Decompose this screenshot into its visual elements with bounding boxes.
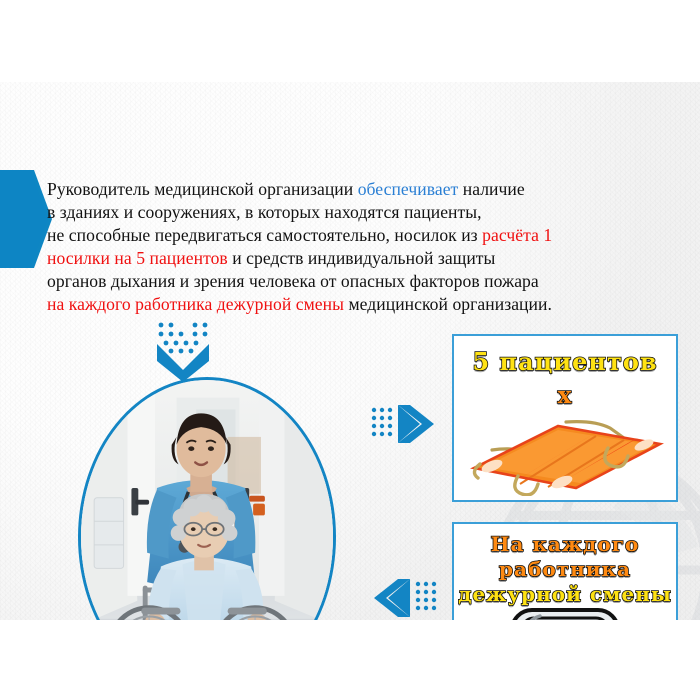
text-run: медицинской организации. (344, 294, 552, 314)
ppe-box-line2: работника (454, 557, 676, 581)
ppe-box-line1: На каждого (454, 532, 676, 556)
text-run-highlight-red: на каждого работника дежурной смены (47, 294, 344, 314)
text-line-2: в зданиях и сооружениях, в которых наход… (47, 201, 677, 224)
photo-circle-frame (78, 377, 336, 620)
regulation-text: Руководитель медицинской организации обе… (47, 178, 677, 317)
stretcher-box-line2: х (454, 382, 676, 409)
nurse-wheelchair-photo (78, 377, 336, 620)
text-line-5: органов дыхания и зрения человека от опа… (47, 270, 677, 293)
text-line-3: не способные передвигаться самостоятельн… (47, 224, 677, 247)
slide-root: Руководитель медицинской организации обе… (0, 0, 700, 700)
text-run: в зданиях и сооружениях, в которых наход… (47, 202, 482, 222)
left-chevron-arrow (368, 574, 440, 620)
text-run-highlight-red: носилки на 5 пациентов (47, 248, 228, 268)
text-run: органов дыхания и зрения человека от опа… (47, 271, 539, 291)
text-run-highlight-blue: обеспечивает (358, 179, 459, 199)
ppe-box-line3: дежурной смены (454, 582, 676, 606)
right-chevron-arrow (368, 400, 440, 448)
stretcher-icon (462, 414, 672, 496)
ppe-box: На каждого работника дежурной смены (452, 522, 678, 620)
stretcher-box: 5 пациентов х (452, 334, 678, 502)
text-run: и средств индивидуальной защиты (228, 248, 496, 268)
text-line-1: Руководитель медицинской организации обе… (47, 178, 677, 201)
left-blue-ribbon (0, 170, 52, 268)
photo-illustration (81, 380, 333, 620)
stretcher-box-line1: 5 пациентов (454, 347, 676, 376)
text-run: не способные передвигаться самостоятельн… (47, 225, 482, 245)
down-chevron-arrow (148, 320, 218, 382)
text-run-highlight-red: расчёта 1 (482, 225, 552, 245)
text-run: Руководитель медицинской организации (47, 179, 358, 199)
text-line-6: на каждого работника дежурной смены меди… (47, 293, 677, 316)
text-line-4: носилки на 5 пациентов и средств индивид… (47, 247, 677, 270)
respirator-goggles-icon (504, 606, 626, 620)
content-panel: Руководитель медицинской организации обе… (0, 82, 700, 620)
text-run: наличие (458, 179, 524, 199)
